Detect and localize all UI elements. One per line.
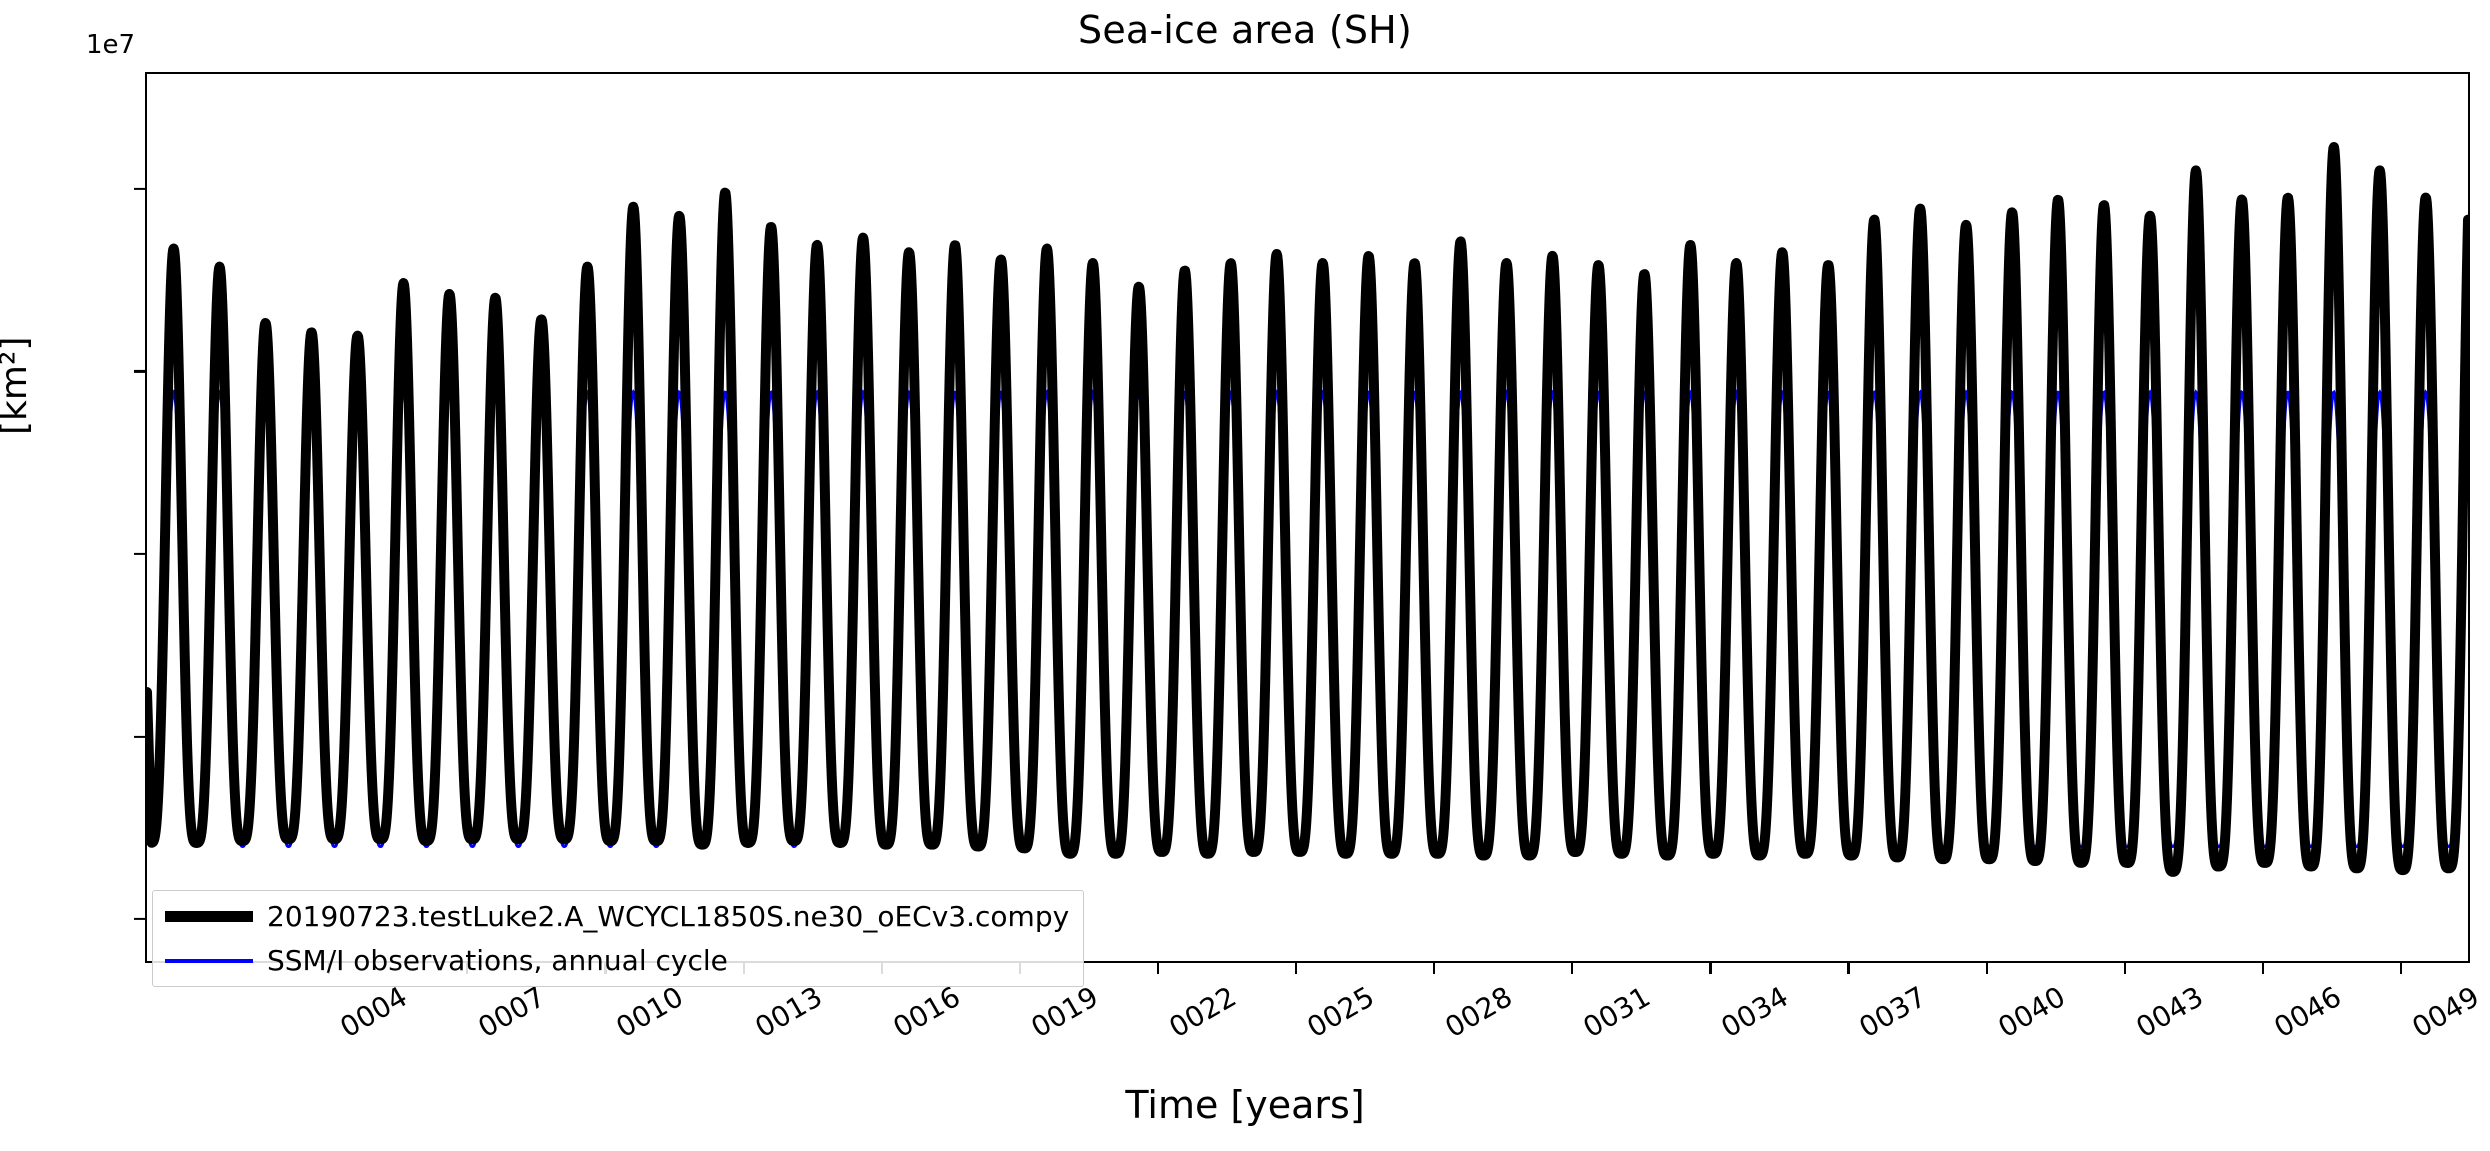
series-line-model-run — [147, 147, 2468, 872]
figure-canvas: Sea-ice area (SH) 1e7 [km²] 0.00.51.01.5… — [0, 0, 2490, 1151]
x-tick-label: 0025 — [1302, 980, 1380, 1044]
y-axis-exponent-label: 1e7 — [86, 30, 135, 60]
x-tick-mark — [2400, 963, 2402, 974]
x-tick-label: 0040 — [1992, 980, 2070, 1044]
series-svg — [147, 74, 2468, 961]
y-tick-mark — [134, 736, 145, 738]
legend[interactable]: 20190723.testLuke2.A_WCYCL1850S.ne30_oEC… — [152, 890, 1084, 987]
x-tick-mark — [1433, 963, 1435, 974]
x-tick-label: 0007 — [473, 980, 551, 1044]
x-tick-label: 0004 — [335, 980, 413, 1044]
x-tick-label: 0019 — [1025, 980, 1103, 1044]
x-tick-label: 0016 — [887, 980, 965, 1044]
legend-item-model[interactable]: 20190723.testLuke2.A_WCYCL1850S.ne30_oEC… — [165, 900, 1069, 933]
x-tick-mark — [1157, 963, 1159, 974]
x-tick-label: 0046 — [2268, 980, 2346, 1044]
x-tick-label: 0037 — [1854, 980, 1932, 1044]
legend-swatch-model — [165, 911, 253, 922]
y-axis-label: [km²] — [0, 337, 35, 435]
x-tick-mark — [1571, 963, 1573, 974]
legend-swatch-observations — [165, 959, 253, 963]
x-tick-mark — [1295, 963, 1297, 974]
x-tick-mark — [1709, 963, 1711, 974]
x-axis-label: Time [years] — [0, 1083, 2490, 1127]
legend-label-observations: SSM/I observations, annual cycle — [267, 944, 728, 977]
chart-title: Sea-ice area (SH) — [0, 8, 2490, 52]
x-tick-mark — [1847, 963, 1849, 974]
legend-item-observations[interactable]: SSM/I observations, annual cycle — [165, 944, 1069, 977]
x-tick-mark — [1986, 963, 1988, 974]
x-tick-label: 0043 — [2130, 980, 2208, 1044]
x-tick-mark — [2124, 963, 2126, 974]
x-tick-label: 0013 — [749, 980, 827, 1044]
legend-label-model: 20190723.testLuke2.A_WCYCL1850S.ne30_oEC… — [267, 900, 1069, 933]
x-tick-label: 0031 — [1578, 980, 1656, 1044]
x-tick-label: 0049 — [2406, 980, 2484, 1044]
y-tick-mark — [134, 188, 145, 190]
x-tick-label: 0034 — [1716, 980, 1794, 1044]
y-tick-mark — [134, 918, 145, 920]
x-tick-label: 0022 — [1163, 980, 1241, 1044]
y-tick-mark — [134, 370, 145, 372]
y-tick-mark — [134, 553, 145, 555]
x-tick-label: 0010 — [611, 980, 689, 1044]
x-tick-label: 0028 — [1440, 980, 1518, 1044]
x-tick-mark — [2262, 963, 2264, 974]
plot-area — [145, 72, 2470, 963]
